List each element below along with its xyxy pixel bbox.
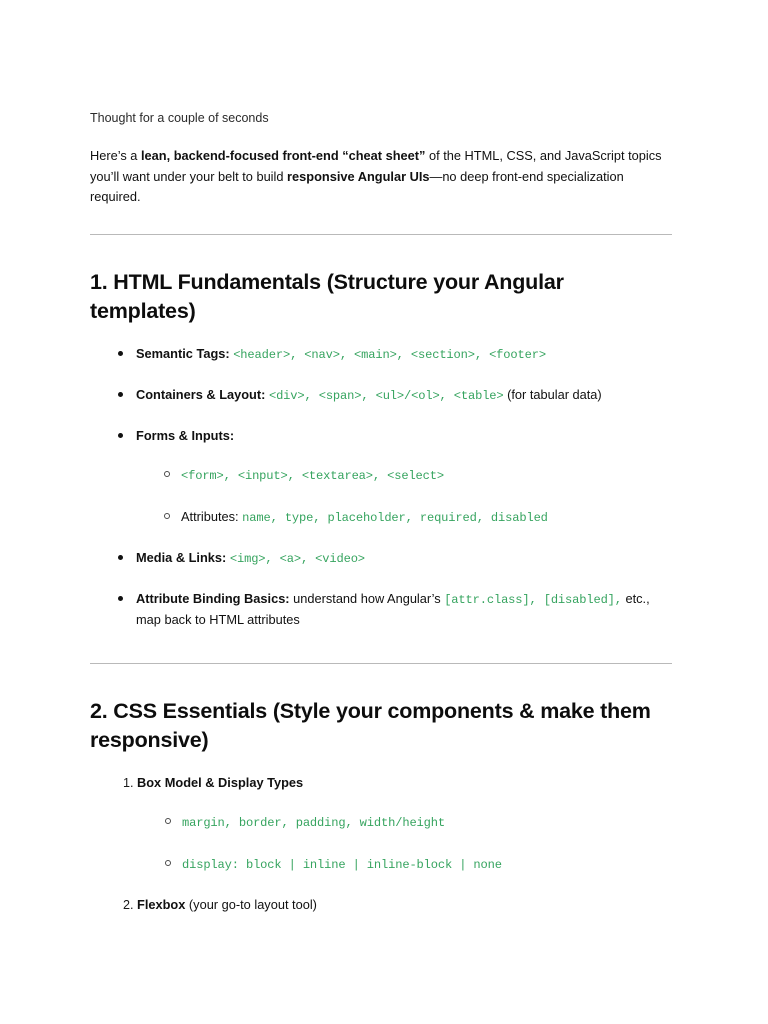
list-item-label: Containers & Layout: — [136, 387, 265, 402]
list-item: Box Model & Display Types margin, border… — [137, 773, 672, 875]
list-item-label: Semantic Tags: — [136, 346, 230, 361]
sub-item-code: name, type, placeholder, required, disab… — [242, 511, 548, 525]
list-item-label: Box Model & Display Types — [137, 775, 303, 790]
list-item-code: [attr.class], [disabled], — [444, 593, 622, 607]
list-item: Media & Links: <img>, <a>, <video> — [136, 548, 672, 569]
section-1-list: Semantic Tags: <header>, <nav>, <main>, … — [90, 344, 672, 629]
box-model-sublist: margin, border, padding, width/height di… — [137, 812, 672, 875]
list-item-tail: (your go-to layout tool) — [185, 897, 317, 912]
divider-top — [90, 234, 672, 235]
list-item: margin, border, padding, width/height — [182, 812, 672, 833]
intro-text-part-1: Here’s a — [90, 148, 141, 163]
section-2-list: Box Model & Display Types margin, border… — [90, 773, 672, 914]
intro-bold-cheat-sheet: lean, backend-focused front-end “cheat s… — [141, 148, 425, 163]
list-item-label: Forms & Inputs: — [136, 428, 234, 443]
sub-item-code: margin, border, padding, width/height — [182, 816, 445, 830]
list-item: Semantic Tags: <header>, <nav>, <main>, … — [136, 344, 672, 365]
sub-item-prefix: Attributes: — [181, 509, 242, 524]
thought-meta-line: Thought for a couple of seconds — [90, 110, 672, 126]
list-item: Attribute Binding Basics: understand how… — [136, 589, 672, 629]
list-item-code: <div>, <span>, <ul>/<ol>, <table> — [269, 389, 504, 403]
list-item-code: <header>, <nav>, <main>, <section>, <foo… — [233, 348, 546, 362]
section-title-css-essentials: 2. CSS Essentials (Style your components… — [90, 697, 672, 755]
list-item-code: <img>, <a>, <video> — [230, 552, 365, 566]
intro-paragraph: Here’s a lean, backend-focused front-end… — [90, 146, 672, 208]
list-item: Attributes: name, type, placeholder, req… — [181, 507, 672, 528]
list-item: Forms & Inputs: <form>, <input>, <textar… — [136, 426, 672, 528]
list-item: Flexbox (your go-to layout tool) — [137, 895, 672, 914]
section-title-html-fundamentals: 1. HTML Fundamentals (Structure your Ang… — [90, 268, 672, 326]
document-page: Thought for a couple of seconds Here’s a… — [0, 0, 768, 914]
list-item-label: Attribute Binding Basics: — [136, 591, 290, 606]
forms-and-inputs-sublist: <form>, <input>, <textarea>, <select> At… — [136, 465, 672, 528]
list-item-mid-text: understand how Angular’s — [290, 591, 445, 606]
list-item-label: Media & Links: — [136, 550, 226, 565]
sub-item-code: display: block | inline | inline-block |… — [182, 858, 502, 872]
list-item: <form>, <input>, <textarea>, <select> — [181, 465, 672, 486]
list-item-tail: (for tabular data) — [504, 387, 602, 402]
list-item: display: block | inline | inline-block |… — [182, 854, 672, 875]
divider-between-sections — [90, 663, 672, 664]
list-item-label: Flexbox — [137, 897, 185, 912]
sub-item-code: <form>, <input>, <textarea>, <select> — [181, 469, 444, 483]
intro-bold-responsive-angular-uis: responsive Angular UIs — [287, 169, 429, 184]
list-item: Containers & Layout: <div>, <span>, <ul>… — [136, 385, 672, 406]
